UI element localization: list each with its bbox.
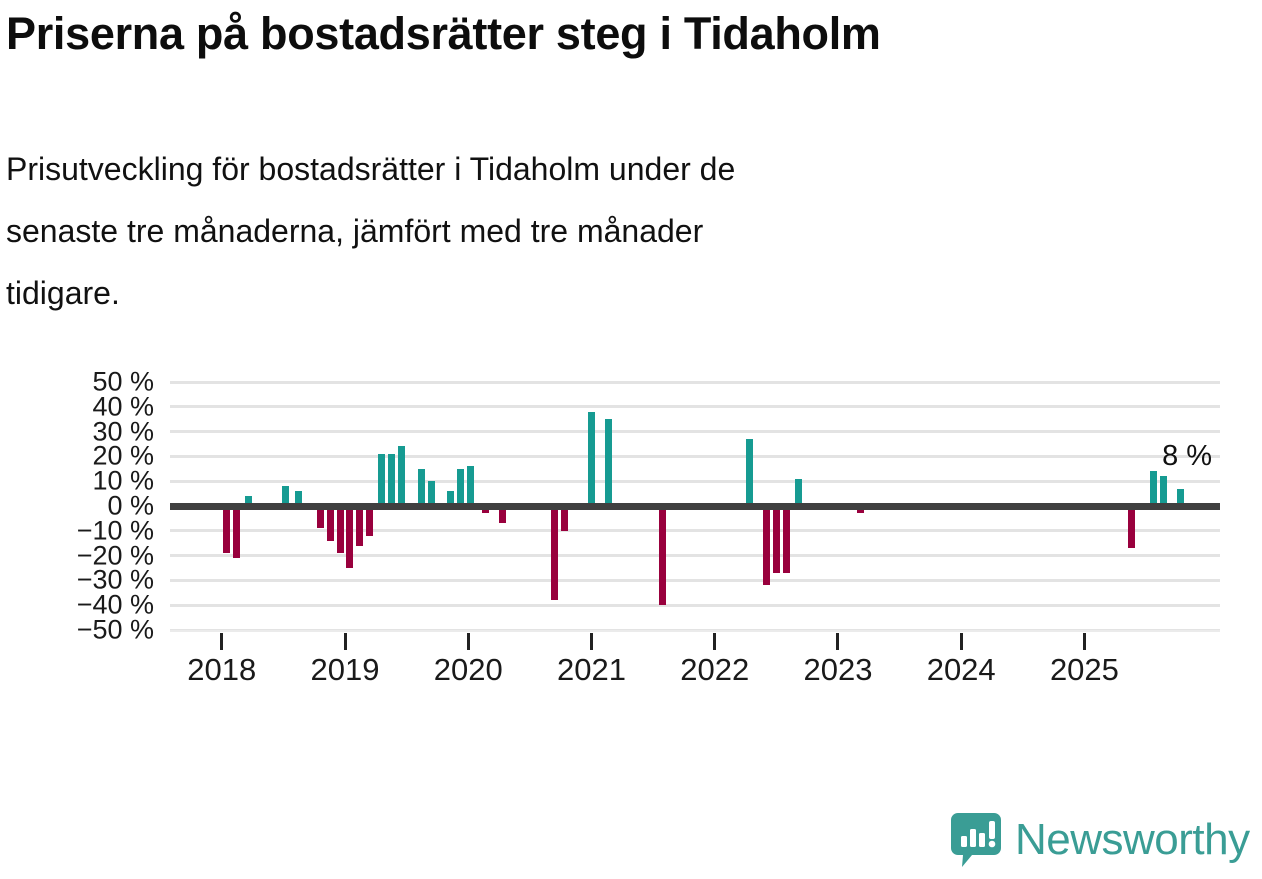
gridline — [170, 455, 1220, 458]
newsworthy-bar-chart-bubble-icon — [950, 812, 1002, 868]
y-axis-labels: 50 %40 %30 %20 %10 %0 %−10 %−20 %−30 %−4… — [0, 360, 170, 660]
bar-chart: 50 %40 %30 %20 %10 %0 %−10 %−20 %−30 %−4… — [0, 360, 1262, 700]
x-axis-tick-label: 2024 — [927, 652, 996, 688]
x-axis-tick — [590, 633, 593, 650]
bar[interactable] — [233, 506, 240, 558]
x-axis-tick-label: 2020 — [434, 652, 503, 688]
x-axis-tick — [467, 633, 470, 650]
gridline — [170, 430, 1220, 433]
x-axis: 20182019202020212022202320242025 — [170, 630, 1220, 700]
bar[interactable] — [763, 506, 770, 585]
bar[interactable] — [457, 469, 464, 506]
newsworthy-wordmark: Newsworthy — [1015, 818, 1250, 862]
chart-page: Priserna på bostadsrätter steg i Tidahol… — [0, 0, 1262, 879]
x-axis-tick-label: 2019 — [311, 652, 380, 688]
newsworthy-logo: Newsworthy — [950, 812, 1250, 868]
bar[interactable] — [366, 506, 373, 536]
bar[interactable] — [795, 479, 802, 506]
bar[interactable] — [659, 506, 666, 605]
x-axis-tick-label: 2018 — [187, 652, 256, 688]
gridline — [170, 381, 1220, 384]
bar[interactable] — [1160, 476, 1167, 506]
zero-axis-line — [170, 503, 1220, 510]
bar[interactable] — [327, 506, 334, 541]
bar[interactable] — [467, 466, 474, 506]
bar[interactable] — [746, 439, 753, 506]
bar[interactable] — [1128, 506, 1135, 548]
bar[interactable] — [418, 469, 425, 506]
plot-area — [170, 382, 1220, 630]
gridline — [170, 405, 1220, 408]
page-title: Priserna på bostadsrätter steg i Tidahol… — [6, 8, 1236, 60]
bar[interactable] — [398, 446, 405, 506]
bar[interactable] — [588, 412, 595, 506]
bar[interactable] — [337, 506, 344, 553]
bar[interactable] — [346, 506, 353, 568]
x-axis-tick-label: 2021 — [557, 652, 626, 688]
bar[interactable] — [551, 506, 558, 600]
x-axis-tick — [836, 633, 839, 650]
y-axis-tick-label: −50 % — [77, 617, 154, 644]
bar[interactable] — [356, 506, 363, 546]
bar[interactable] — [773, 506, 780, 573]
subtitle-line-2: senaste tre månaderna, jämfört med tre m… — [6, 200, 1146, 262]
x-axis-tick — [960, 633, 963, 650]
bar[interactable] — [223, 506, 230, 553]
x-axis-tick-label: 2023 — [803, 652, 872, 688]
subtitle-line-1: Prisutveckling för bostadsrätter i Tidah… — [6, 138, 1146, 200]
value-annotation: 8 % — [1162, 440, 1212, 473]
gridline — [170, 480, 1220, 483]
bar[interactable] — [378, 454, 385, 506]
page-subtitle: Prisutveckling för bostadsrätter i Tidah… — [6, 138, 1146, 324]
x-axis-tick — [1083, 633, 1086, 650]
x-axis-tick-label: 2025 — [1050, 652, 1119, 688]
x-axis-tick — [220, 633, 223, 650]
gridline — [170, 604, 1220, 607]
bar[interactable] — [1150, 471, 1157, 506]
gridline — [170, 579, 1220, 582]
x-axis-tick-label: 2022 — [680, 652, 749, 688]
subtitle-line-3: tidigare. — [6, 262, 1146, 324]
bar[interactable] — [605, 419, 612, 506]
x-axis-tick — [344, 633, 347, 650]
gridline — [170, 554, 1220, 557]
bar[interactable] — [388, 454, 395, 506]
x-axis-tick — [713, 633, 716, 650]
bar[interactable] — [783, 506, 790, 573]
x-axis-line — [170, 630, 1220, 632]
